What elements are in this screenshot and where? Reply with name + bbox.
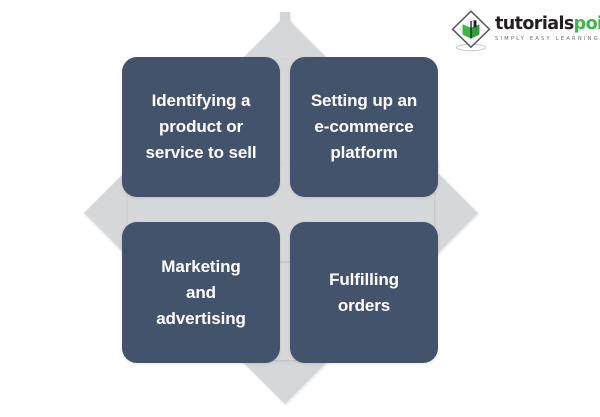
logo-wordmark: tutorialspoint SIMPLY EASY LEARNING xyxy=(495,15,595,45)
fulfilling-orders-box[interactable]: Fulfilling orders xyxy=(290,222,438,363)
tutorialspoint-logo: tutorialspoint SIMPLY EASY LEARNING xyxy=(449,6,595,52)
marketing-advertising-label: Marketing and advertising xyxy=(148,254,254,332)
logo-tagline: SIMPLY EASY LEARNING xyxy=(495,36,595,42)
setting-up-platform-label: Setting up an e-commerce platform xyxy=(303,88,425,166)
logo-brand-second: point xyxy=(574,14,600,34)
identifying-product-box[interactable]: Identifying a product or service to sell xyxy=(122,57,280,197)
diagram-canvas: Identifying a product or service to sell… xyxy=(0,0,600,417)
identifying-product-label: Identifying a product or service to sell xyxy=(138,88,265,166)
marketing-advertising-box[interactable]: Marketing and advertising xyxy=(122,222,280,363)
open-book-diamond-icon xyxy=(449,8,493,52)
setting-up-platform-box[interactable]: Setting up an e-commerce platform xyxy=(290,57,438,197)
fulfilling-orders-label: Fulfilling orders xyxy=(321,267,407,319)
logo-brand-first: tutorials xyxy=(495,14,574,34)
logo-brand-text: tutorialspoint xyxy=(495,15,595,34)
